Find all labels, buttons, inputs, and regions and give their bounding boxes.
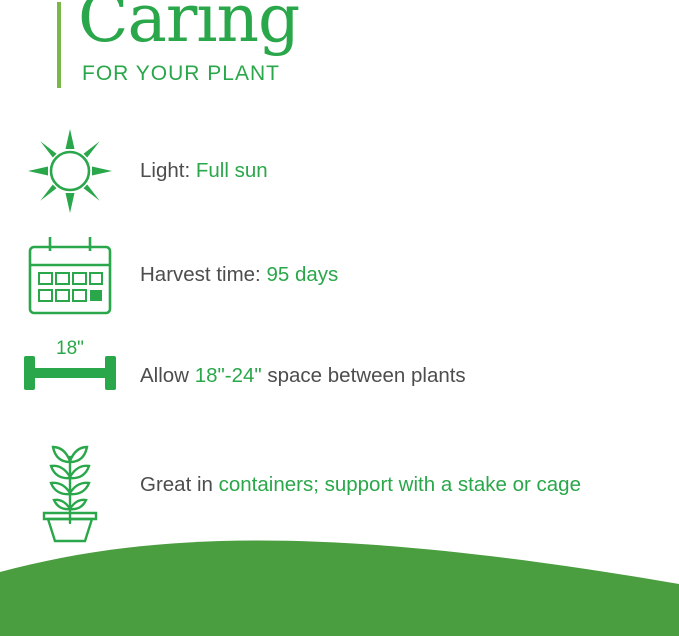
care-info-list: Light: Full sun — [0, 118, 679, 544]
spacing-label: Allow — [140, 364, 195, 387]
light-label: Light: — [140, 159, 196, 182]
spacing-trailing: space between plants — [262, 364, 466, 387]
spacing-icon-label: 18" — [56, 340, 84, 359]
list-item-light: Light: Full sun — [0, 118, 679, 224]
container-value: containers; support with a stake or cage — [219, 473, 581, 496]
page-header: Caring FOR YOUR PLANT — [0, 0, 679, 110]
container-label: Great in — [140, 473, 219, 496]
list-item-spacing: 18" Allow 18"-24" space between plants — [0, 326, 679, 426]
list-item-harvest: Harvest time: 95 days — [0, 224, 679, 326]
sun-icon — [0, 119, 140, 223]
spacing-ruler-icon: 18" — [0, 324, 140, 428]
light-value: Full sun — [196, 159, 268, 182]
spacing-text: Allow 18"-24" space between plants — [140, 362, 506, 389]
potted-plant-icon — [0, 433, 140, 537]
header-accent-rule — [57, 2, 61, 88]
harvest-label: Harvest time: — [140, 263, 266, 286]
page-title: Caring — [78, 0, 299, 52]
page-subtitle: FOR YOUR PLANT — [82, 62, 280, 86]
light-text: Light: Full sun — [140, 157, 308, 184]
calendar-icon — [0, 223, 140, 327]
container-text: Great in containers; support with a stak… — [140, 471, 621, 498]
spacing-value: 18"-24" — [195, 364, 262, 387]
harvest-text: Harvest time: 95 days — [140, 261, 378, 288]
bottom-decorative-swoosh — [0, 526, 679, 636]
harvest-value: 95 days — [266, 263, 338, 286]
